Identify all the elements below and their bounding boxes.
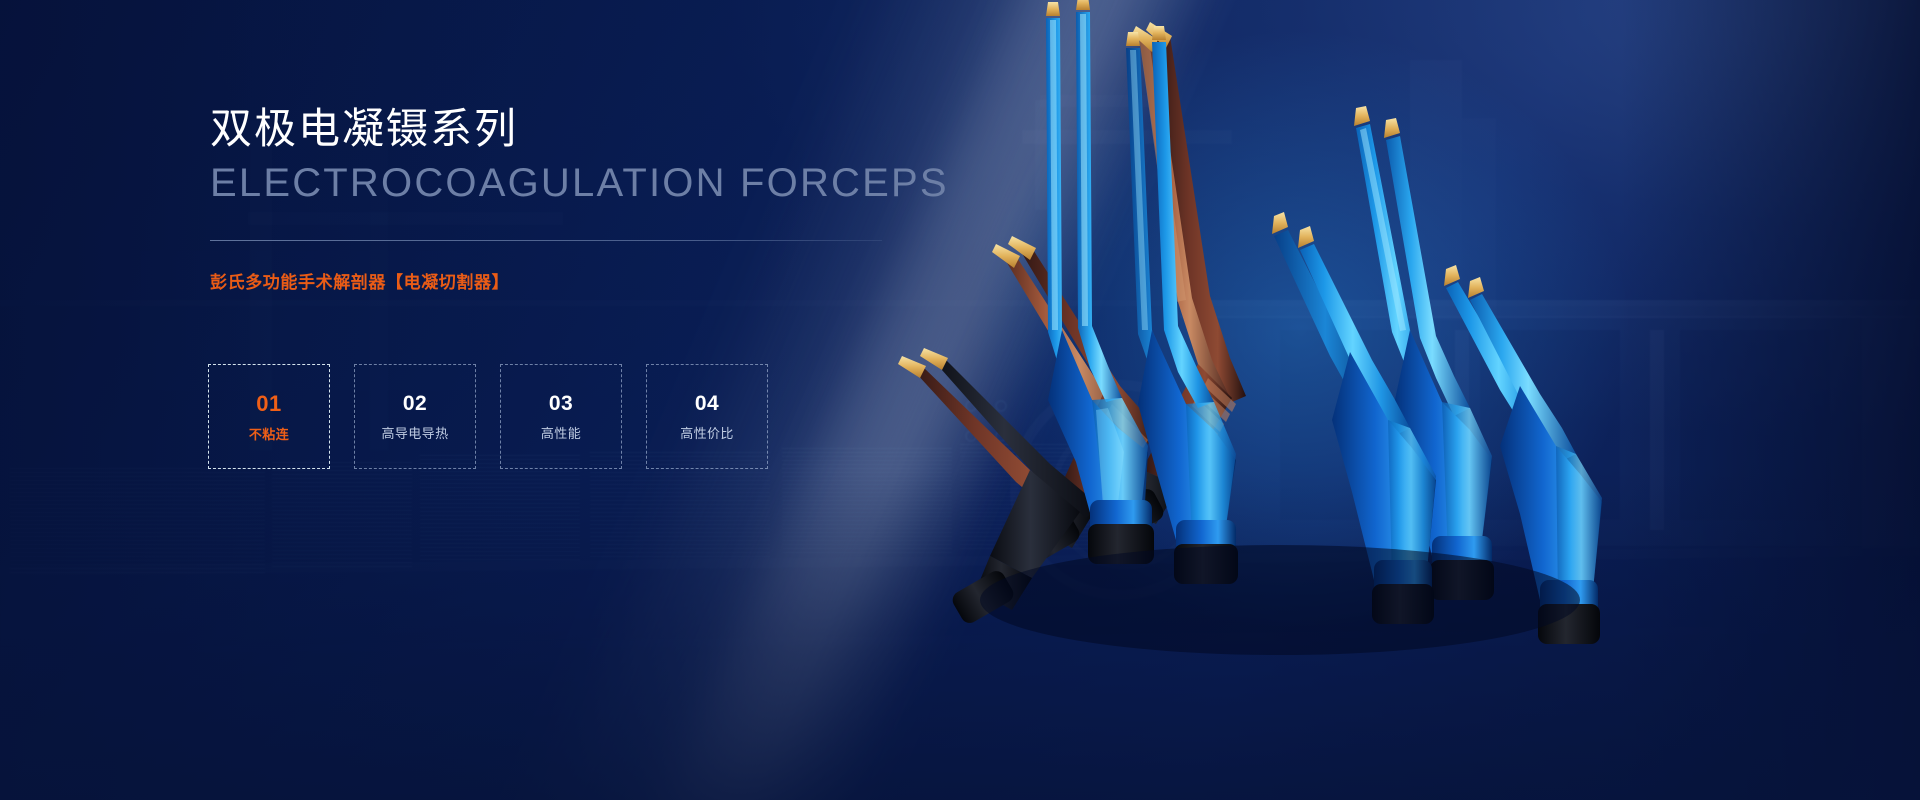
feature-label: 不粘连: [249, 428, 289, 441]
feature-item-01[interactable]: 01 不粘连: [208, 364, 330, 469]
feature-number: 04: [695, 393, 719, 414]
feature-list: 01 不粘连 02 高导电导热 03 高性能 04 高性价比: [208, 364, 768, 469]
product-subtitle: 彭氏多功能手术解剖器【电凝切割器】: [210, 268, 910, 293]
feature-label: 高性能: [541, 427, 581, 440]
feature-item-02[interactable]: 02 高导电导热: [354, 364, 476, 469]
feature-item-04[interactable]: 04 高性价比: [646, 364, 768, 469]
bottom-vignette: [0, 470, 1920, 800]
banner-text-block: 双极电凝镊系列 ELECTROCOAGULATION FORCEPS 彭氏多功能…: [210, 104, 910, 293]
page-title: 双极电凝镊系列: [210, 104, 910, 154]
feature-number: 01: [256, 393, 281, 415]
feature-label: 高导电导热: [381, 427, 448, 440]
feature-label: 高性价比: [680, 427, 734, 440]
divider: [210, 240, 882, 241]
feature-number: 03: [549, 393, 573, 414]
feature-number: 02: [403, 393, 427, 414]
feature-item-03[interactable]: 03 高性能: [500, 364, 622, 469]
page-subtitle-en: ELECTROCOAGULATION FORCEPS: [210, 160, 910, 206]
product-banner: 双极电凝镊系列 ELECTROCOAGULATION FORCEPS 彭氏多功能…: [0, 0, 1920, 800]
